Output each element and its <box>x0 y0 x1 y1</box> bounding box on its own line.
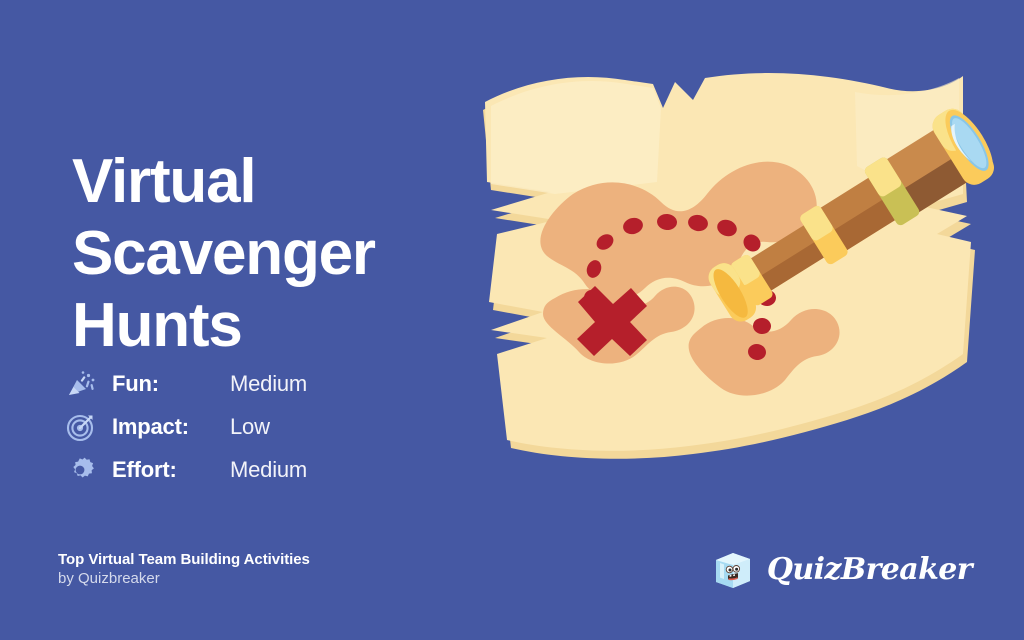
ice-cube-mascot-icon <box>709 546 755 592</box>
attribute-row-fun: Fun: Medium <box>64 362 424 405</box>
footer-subtitle: by Quizbreaker <box>58 569 310 589</box>
attribute-list: Fun: Medium Impact: Low <box>64 362 424 491</box>
attribute-row-effort: Effort: Medium <box>64 448 424 491</box>
title-line-1: Virtual <box>72 146 472 218</box>
footer-title: Top Virtual Team Building Activities <box>58 550 310 569</box>
page-title: Virtual Scavenger Hunts <box>72 146 472 362</box>
title-line-2: Scavenger <box>72 218 472 290</box>
target-icon <box>64 410 98 444</box>
gear-icon <box>64 453 98 487</box>
attribute-label-fun: Fun: <box>112 371 230 397</box>
brand-logo: QuizBreaker <box>709 546 972 592</box>
title-line-3: Hunts <box>72 290 472 362</box>
attribute-label-impact: Impact: <box>112 414 230 440</box>
party-popper-icon <box>64 367 98 401</box>
attribute-label-effort: Effort: <box>112 457 230 483</box>
attribute-value-effort: Medium <box>230 457 307 483</box>
attribute-row-impact: Impact: Low <box>64 405 424 448</box>
brand-name: QuizBreaker <box>767 552 972 587</box>
promo-card: Virtual Scavenger Hunts Fun: Medium <box>0 0 1024 640</box>
attribute-value-impact: Low <box>230 414 270 440</box>
treasure-map-and-telescope-illustration <box>455 62 1015 522</box>
footer: Top Virtual Team Building Activities by … <box>58 550 310 589</box>
attribute-value-fun: Medium <box>230 371 307 397</box>
